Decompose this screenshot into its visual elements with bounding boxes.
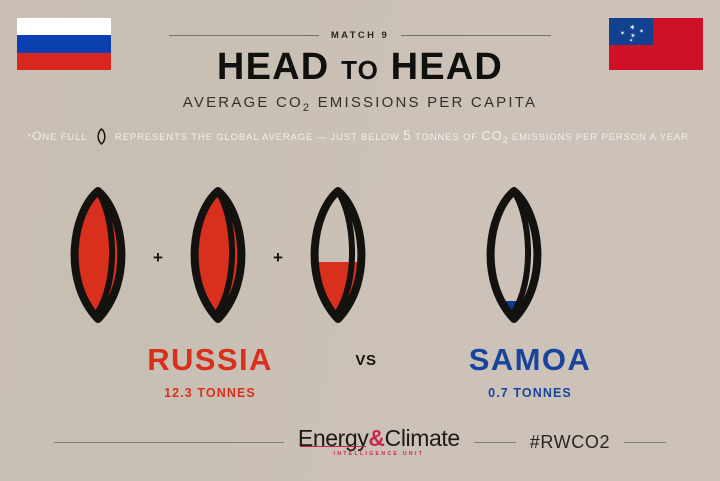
rugby-ball-icon: [95, 128, 108, 148]
footnote-mid: REPRESENTS THE GLOBAL AVERAGE — JUST BEL…: [112, 132, 404, 143]
footnote-co2: CO: [481, 128, 502, 143]
footer-rule-right: [624, 442, 666, 443]
title-word-2: HEAD: [391, 46, 503, 88]
footnote: *ONE FULL REPRESENTS THE GLOBAL AVERAGE …: [0, 127, 720, 148]
footnote-tail: EMISSIONS PER PERSON A YEAR.: [508, 132, 692, 143]
footnote-lead-rest: NE FULL: [42, 132, 90, 143]
plus-icon: +: [144, 249, 172, 266]
footer-rule-left: [54, 442, 284, 443]
page-title: HEAD TO HEAD: [0, 48, 720, 86]
header-rule-left: [169, 35, 319, 36]
footer-rule-mid: [474, 442, 516, 443]
subtitle-post: EMISSIONS PER CAPITA: [311, 94, 537, 111]
team-tonnes: 0.7 TONNES: [430, 386, 630, 400]
page-subtitle: AVERAGE CO2 EMISSIONS PER CAPITA: [0, 94, 720, 114]
title-word-to: TO: [341, 55, 379, 85]
title-word-1: HEAD: [217, 46, 329, 88]
team-name: RUSSIA: [52, 344, 368, 375]
infographic-poster: ✶ ✶ ✶ ✶ ✶ MATCH 9 HEAD TO HEAD AVERAGE C…: [0, 0, 720, 481]
footnote-value: 5: [403, 127, 412, 143]
footnote-lead-cap: O: [32, 129, 42, 143]
versus-label: VS: [336, 352, 396, 369]
match-header-row: MATCH 9: [0, 30, 720, 41]
samoa-ball-group: [468, 185, 560, 330]
logo-climate: Climate: [385, 425, 460, 451]
hashtag: #RWCO2: [530, 432, 610, 453]
rugby-ball-icon: [172, 185, 264, 330]
subtitle-pre: AVERAGE CO: [183, 94, 303, 111]
logo-ampersand: &: [368, 425, 384, 451]
plus-icon: +: [264, 249, 292, 266]
subtitle-sub: 2: [303, 102, 311, 114]
footer: Energy&Climate INTELLIGENCE UNIT #RWCO2: [0, 427, 720, 459]
team-label-samoa: SAMOA 0.7 TONNES: [430, 344, 630, 400]
team-tonnes: 12.3 TONNES: [52, 386, 368, 400]
logo-subtitle: INTELLIGENCE UNIT: [298, 452, 460, 457]
header-rule-right: [401, 35, 551, 36]
footnote-after-value: TONNES OF: [412, 132, 482, 143]
eciu-logo[interactable]: Energy&Climate INTELLIGENCE UNIT: [298, 427, 460, 459]
logo-underline: [300, 446, 366, 448]
team-label-russia: RUSSIA 12.3 TONNES: [52, 344, 368, 400]
match-label: MATCH 9: [331, 30, 389, 41]
rugby-ball-icon-partial: [292, 185, 384, 330]
team-name: SAMOA: [430, 344, 630, 375]
rugby-ball-icon-partial: [468, 185, 560, 330]
rugby-ball-icon: [52, 185, 144, 330]
russia-ball-group: + +: [52, 185, 384, 330]
